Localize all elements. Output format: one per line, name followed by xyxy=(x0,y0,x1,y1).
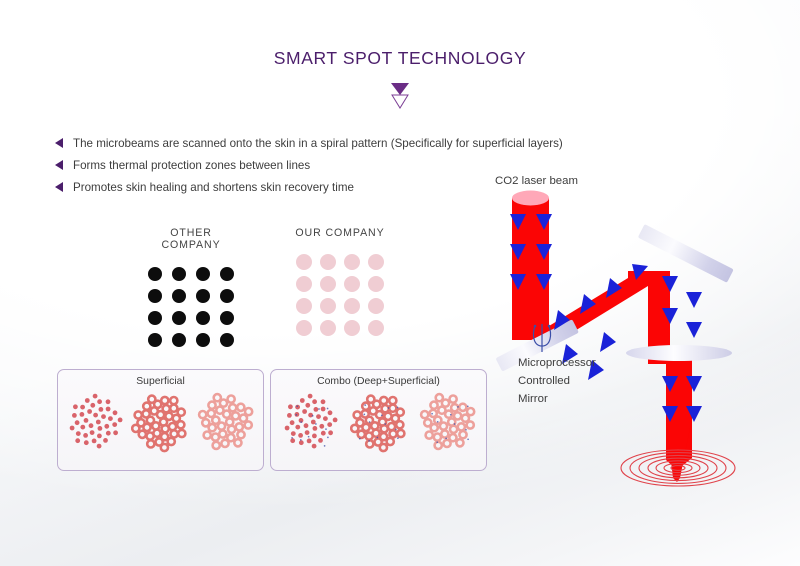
grid-dot xyxy=(172,311,186,325)
bullet-text: Forms thermal protection zones between l… xyxy=(73,159,310,172)
panel-combo: Combo (Deep+Superficial) xyxy=(270,369,487,471)
grid-dot xyxy=(296,276,312,292)
grid-dot xyxy=(344,298,360,314)
bullet-text: The microbeams are scanned onto the skin… xyxy=(73,137,563,150)
rotation-psi-icon xyxy=(527,322,557,354)
grid-dot xyxy=(344,276,360,292)
down-triangle-icon xyxy=(389,82,411,110)
grid-dot xyxy=(220,267,234,281)
spiral-dot-cluster xyxy=(419,391,477,453)
spiral-dot-cluster xyxy=(350,391,408,453)
page-title: SMART SPOT TECHNOLOGY xyxy=(0,48,800,69)
grid-dot xyxy=(196,333,210,347)
bullet-text: Promotes skin healing and shortens skin … xyxy=(73,181,354,194)
grid-dot xyxy=(148,333,162,347)
spiral-dot-cluster xyxy=(66,391,124,453)
spiral-dot-cluster xyxy=(197,391,255,453)
grid-dot xyxy=(220,333,234,347)
dot-grid-ours xyxy=(292,251,388,339)
grid-dot xyxy=(172,333,186,347)
panel-title: Combo (Deep+Superficial) xyxy=(271,370,486,387)
left-triangle-icon xyxy=(55,138,63,148)
grid-dot xyxy=(368,254,384,270)
grid-dot xyxy=(220,289,234,303)
spiral-dot-cluster xyxy=(281,391,339,453)
mirror-label-line-2: Controlled xyxy=(518,372,596,390)
grid-dot xyxy=(320,276,336,292)
microprocessor-controlled-mirror-label: Microprocessor Controlled Mirror xyxy=(518,354,596,408)
grid-dot xyxy=(172,267,186,281)
grid-dot xyxy=(368,276,384,292)
comparison-our-company: OUR COMPANY xyxy=(292,227,388,339)
grid-dot xyxy=(196,267,210,281)
left-triangle-icon xyxy=(55,160,63,170)
grid-dot xyxy=(344,320,360,336)
comparison-other-company: OTHER COMPANY xyxy=(143,227,239,351)
grid-dot xyxy=(344,254,360,270)
grid-dot xyxy=(320,254,336,270)
grid-dot xyxy=(148,311,162,325)
grid-dot xyxy=(196,289,210,303)
mirror-label-line-3: Mirror xyxy=(518,390,596,408)
cluster-row xyxy=(58,387,263,457)
grid-dot xyxy=(172,289,186,303)
grid-dot xyxy=(296,298,312,314)
panel-title: Superficial xyxy=(58,370,263,387)
grid-dot xyxy=(220,311,234,325)
comparison-label: OUR COMPANY xyxy=(292,227,388,239)
grid-dot xyxy=(296,254,312,270)
focusing-lens xyxy=(626,345,732,361)
dot-grid-other xyxy=(143,263,239,351)
grid-dot xyxy=(148,267,162,281)
grid-dot xyxy=(320,320,336,336)
list-item: The microbeams are scanned onto the skin… xyxy=(55,132,615,154)
panel-superficial: Superficial xyxy=(57,369,264,471)
left-triangle-icon xyxy=(55,182,63,192)
mirror-label-line-1: Microprocessor xyxy=(518,354,596,372)
grid-dot xyxy=(368,320,384,336)
grid-dot xyxy=(196,311,210,325)
grid-dot xyxy=(320,298,336,314)
grid-dot xyxy=(296,320,312,336)
cluster-row xyxy=(271,387,486,457)
spiral-dot-cluster xyxy=(131,391,189,453)
comparison-label: OTHER COMPANY xyxy=(143,227,239,251)
grid-dot xyxy=(368,298,384,314)
infographic-canvas: SMART SPOT TECHNOLOGY The microbeams are… xyxy=(0,0,800,566)
grid-dot xyxy=(148,289,162,303)
